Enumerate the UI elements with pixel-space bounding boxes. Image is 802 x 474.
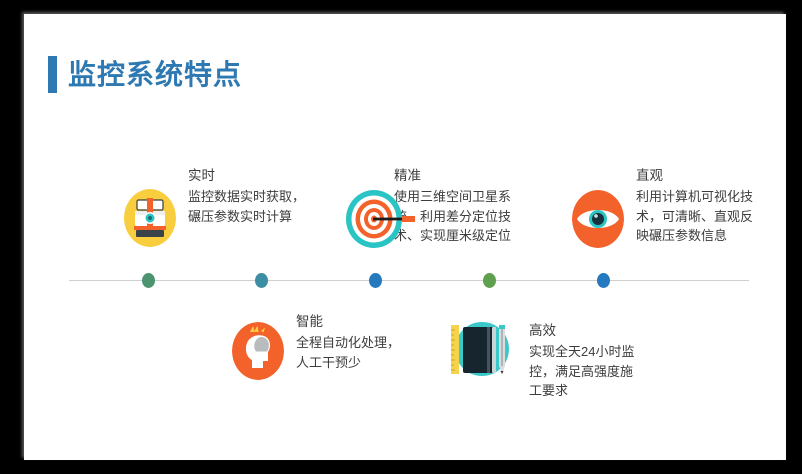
feature-item-efficient: 高效 实现全天24小时监控，满足高强度施工要求 [449, 312, 639, 401]
survey-instrument-icon [124, 189, 176, 247]
feature-description: 实现全天24小时监控，满足高强度施工要求 [529, 342, 639, 401]
timeline-dot-3 [369, 273, 382, 288]
feature-text-intuitive: 直观 利用计算机可视化技术，可清晰、直观反映碾压参数信息 [636, 166, 764, 246]
feature-item-intuitive: 直观 利用计算机可视化技术，可清晰、直观反映碾压参数信息 [572, 166, 768, 248]
slide-canvas: 监控系统特点 [24, 14, 786, 460]
timeline-dot-2 [255, 273, 268, 288]
feature-title: 高效 [529, 321, 639, 340]
timeline-axis [69, 280, 749, 281]
feature-description: 利用计算机可视化技术，可清晰、直观反映碾压参数信息 [636, 187, 764, 246]
feature-item-smart: 智能 全程自动化处理，人工干预少 [232, 312, 417, 380]
feature-text-realtime: 实时 监控数据实时获取，碾压参数实时计算 [188, 166, 308, 226]
feature-item-precise: 精准 使用三维空间卫星系统、利用差分定位技术、实现厘米级定位 [346, 166, 536, 248]
brain-head-icon [232, 322, 284, 380]
feature-description: 全程自动化处理，人工干预少 [296, 333, 411, 372]
feature-item-realtime: 实时 监控数据实时获取，碾压参数实时计算 [124, 166, 309, 247]
feature-title: 智能 [296, 312, 411, 331]
timeline-dot-4 [483, 273, 496, 288]
feature-title: 直观 [636, 166, 764, 185]
feature-title: 精准 [394, 166, 514, 185]
title-accent-bar [48, 56, 57, 93]
slide-frame: 监控系统特点 [0, 0, 802, 474]
feature-text-smart: 智能 全程自动化处理，人工干预少 [296, 312, 411, 372]
notebook-ruler-pencil-icon [449, 316, 515, 382]
feature-text-efficient: 高效 实现全天24小时监控，满足高强度施工要求 [529, 321, 639, 401]
feature-title: 实时 [188, 166, 308, 185]
page-title: 监控系统特点 [48, 56, 242, 93]
feature-description: 监控数据实时获取，碾压参数实时计算 [188, 187, 308, 226]
title-label: 监控系统特点 [68, 61, 242, 89]
timeline-dot-5 [597, 273, 610, 288]
target-arrow-icon [346, 190, 398, 248]
timeline-dot-1 [142, 273, 155, 288]
eye-icon [572, 190, 624, 248]
